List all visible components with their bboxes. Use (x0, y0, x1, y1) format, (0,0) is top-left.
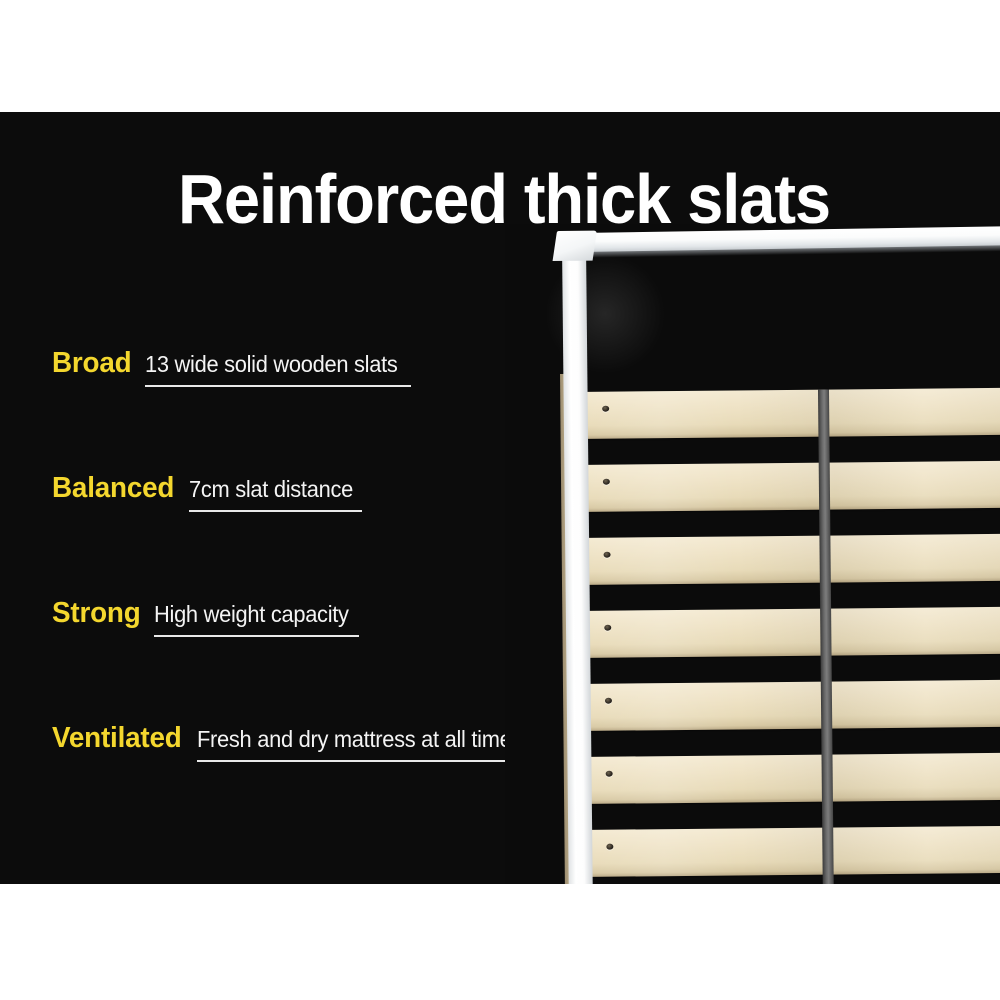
screw-head (604, 625, 611, 631)
list-item: Broad 13 wide solid wooden slats (52, 347, 552, 472)
wooden-slat (577, 606, 1000, 658)
feature-description: Fresh and dry mattress at all times (197, 726, 522, 753)
feature-underline: Fresh and dry mattress at all times (197, 726, 539, 762)
feature-description: 13 wide solid wooden slats (145, 351, 398, 378)
feature-list: Broad 13 wide solid wooden slats Balance… (52, 347, 552, 847)
feature-underline: 7cm slat distance (189, 476, 362, 512)
feature-term: Balanced (52, 472, 174, 505)
screw-head (606, 844, 613, 850)
feature-underline: High weight capacity (154, 601, 359, 637)
screw-head (606, 771, 613, 777)
list-item: Ventilated Fresh and dry mattress at all… (52, 722, 552, 847)
slat-deck (575, 387, 1000, 884)
list-item: Strong High weight capacity (52, 597, 552, 722)
screw-head (604, 552, 611, 558)
corner-post-cap (553, 231, 597, 261)
feature-description: 7cm slat distance (189, 476, 353, 503)
screw-head (602, 406, 609, 412)
feature-panel: Reinforced thick slats Broad 13 wide sol… (0, 112, 1000, 884)
wooden-slat (579, 752, 1000, 804)
wooden-slat (576, 533, 1000, 585)
screw-head (605, 698, 612, 704)
feature-term: Ventilated (52, 722, 182, 755)
feature-description: High weight capacity (154, 601, 349, 628)
feature-underline: 13 wide solid wooden slats (145, 351, 411, 387)
screw-head (603, 479, 610, 485)
wooden-slat (578, 679, 1000, 731)
list-item: Balanced 7cm slat distance (52, 472, 552, 597)
wooden-slat (579, 825, 1000, 877)
wooden-slat (576, 460, 1000, 512)
feature-term: Strong (52, 597, 141, 630)
product-feature-banner: Reinforced thick slats Broad 13 wide sol… (0, 0, 1000, 1000)
feature-term: Broad (52, 347, 131, 380)
wooden-slat (575, 387, 1000, 439)
product-photo (505, 224, 1000, 884)
